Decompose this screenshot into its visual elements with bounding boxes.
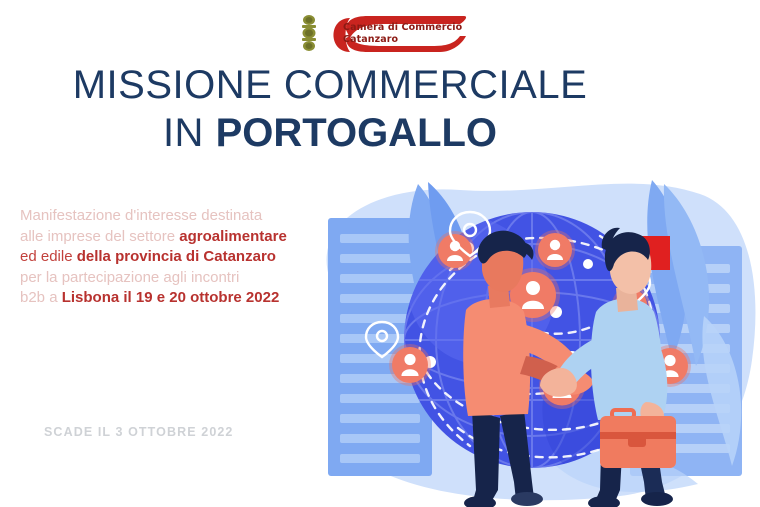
person-left-shirt	[463, 299, 530, 416]
description-line-1: Manifestazione d'interesse destinata	[20, 206, 330, 227]
title-line-2-prefix: IN	[163, 111, 216, 155]
description-line-3-red: ed edile	[20, 248, 77, 265]
description-line-2-bold: agroalimentare	[179, 228, 287, 245]
avatar-badge	[535, 230, 575, 270]
person-right-shoe	[641, 492, 673, 506]
person-left-leg	[472, 410, 500, 504]
coat-of-arms-crest-icon	[298, 14, 320, 52]
description-line-5-plain: b2b a	[20, 289, 62, 306]
person-left-shoe	[511, 492, 543, 506]
title-line-2-country: PORTOGALLO	[216, 111, 497, 155]
description-line-3-bold: della provincia di Catanzaro	[77, 248, 276, 265]
hero-illustration	[300, 160, 760, 507]
title-line-2: IN PORTOGALLO	[0, 110, 660, 156]
description-line-3: ed edile della provincia di Catanzaro	[20, 247, 330, 268]
title-line-1: MISSIONE COMMERCIALE	[0, 62, 660, 108]
briefcase	[600, 410, 676, 468]
avatar-badge	[389, 344, 431, 386]
description-line-5-bold: Lisbona il 19 e 20 ottobre 2022	[62, 289, 280, 306]
description-line-5: b2b a Lisbona il 19 e 20 ottobre 2022	[20, 288, 330, 309]
chamber-logo-name: Camera di Commercio Catanzaro	[343, 22, 462, 45]
poster-canvas: Camera di Commercio Catanzaro MISSIONE C…	[0, 0, 760, 507]
chamber-logo: Camera di Commercio Catanzaro	[298, 12, 468, 56]
description-line-2: alle imprese del settore agroalimentare	[20, 227, 330, 248]
description-text: Manifestazione d'interesse destinata all…	[20, 206, 330, 309]
description-line-4: per la partecipazione agli incontri	[20, 268, 330, 289]
page-title: MISSIONE COMMERCIALE IN PORTOGALLO	[0, 62, 660, 156]
deadline-label: SCADE IL 3 OTTOBRE 2022	[44, 425, 233, 439]
briefcase-lock	[628, 434, 646, 447]
description-line-2-plain: alle imprese del settore	[20, 228, 179, 245]
